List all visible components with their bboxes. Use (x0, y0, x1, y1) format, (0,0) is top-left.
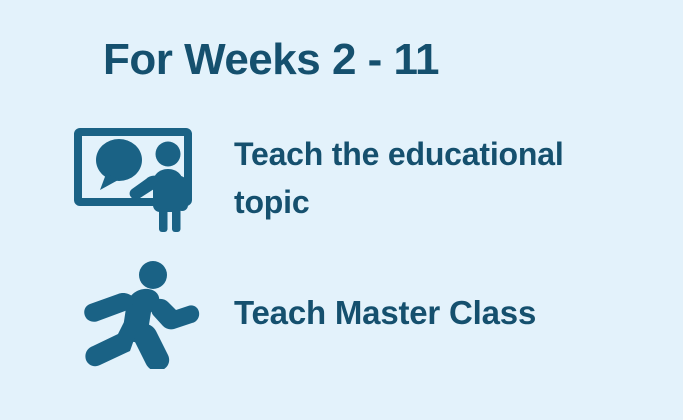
running-person-icon (74, 257, 210, 369)
list-item-label: Teach Master Class (234, 293, 634, 333)
page-title: For Weeks 2 - 11 (103, 36, 439, 84)
slide-canvas: For Weeks 2 - 11 (0, 0, 683, 420)
teacher-presentation-icon (74, 122, 210, 234)
list-item-label: Teach the educational topic (234, 130, 634, 226)
list-item: Teach Master Class (74, 258, 634, 368)
list-item: Teach the educational topic (74, 122, 634, 234)
